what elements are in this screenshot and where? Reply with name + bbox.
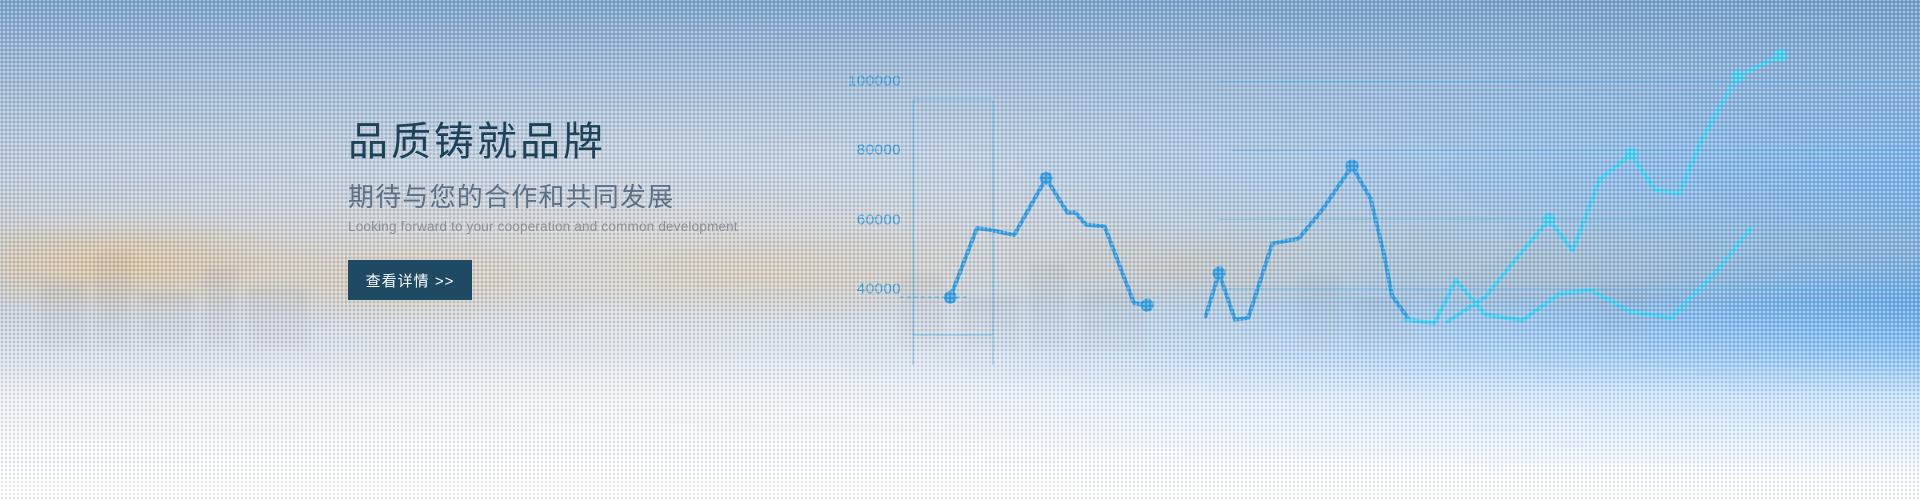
- view-details-button[interactable]: 查看详情 >>: [348, 260, 472, 300]
- page-subtitle: 期待与您的合作和共同发展: [348, 181, 788, 214]
- hero-copy-block: 品质铸就品牌 期待与您的合作和共同发展 Looking forward to y…: [348, 118, 788, 300]
- hero-banner: 400006000080000100000 品质铸就品牌 期待与您的合作和共同发…: [0, 0, 1920, 500]
- page-title: 品质铸就品牌: [348, 118, 788, 167]
- page-subtitle-english: Looking forward to your cooperation and …: [348, 219, 788, 234]
- halftone-highlight-texture: [0, 0, 1920, 500]
